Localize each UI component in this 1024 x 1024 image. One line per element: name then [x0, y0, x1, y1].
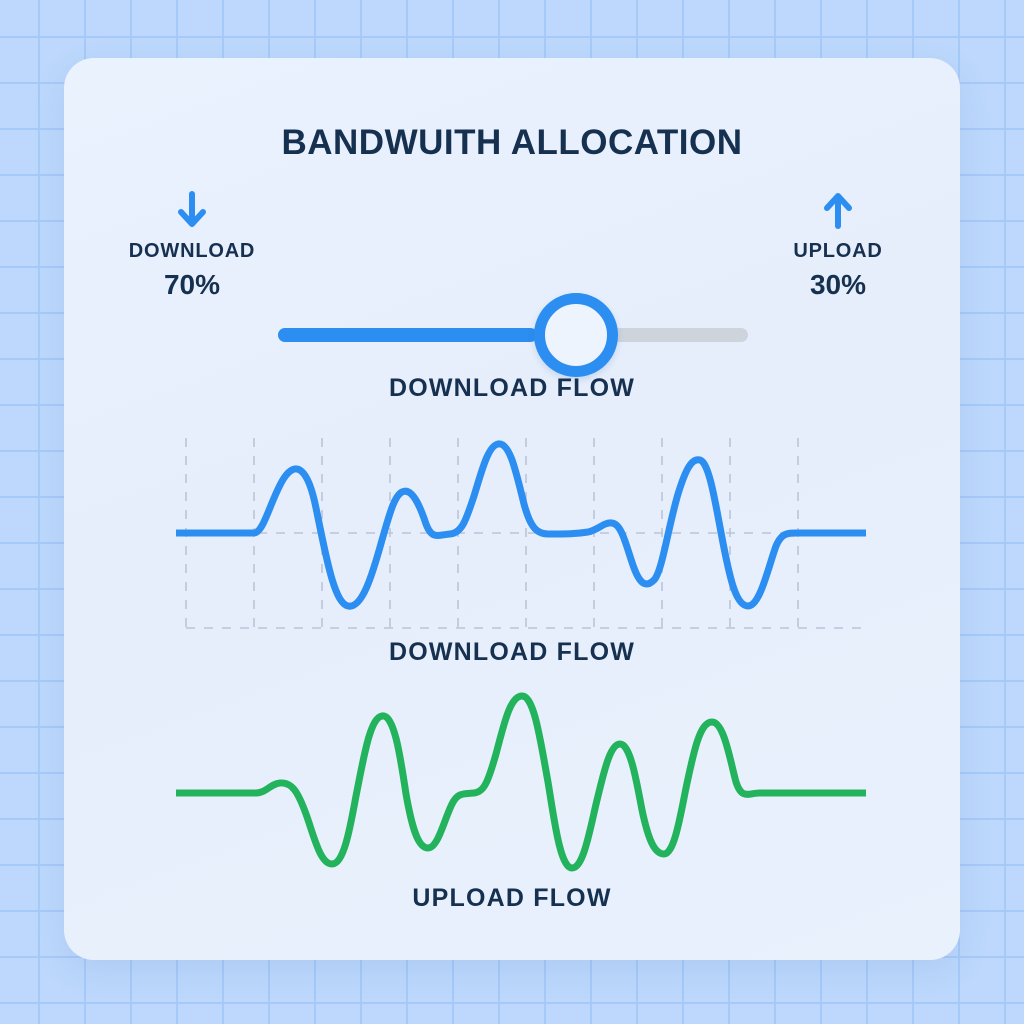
download-percent: 70%	[92, 269, 292, 301]
slider-track-fill	[278, 328, 537, 342]
chart-gridlines	[186, 438, 866, 628]
upload-flow-line	[176, 696, 866, 868]
middle-flow-heading: DOWNLOAD FLOW	[64, 638, 960, 667]
bandwidth-slider[interactable]	[278, 292, 748, 376]
upload-side-readout: UPLOAD 30%	[738, 188, 938, 301]
bandwidth-allocation-card: BANDWUITH ALLOCATION DOWNLOAD 70%	[64, 58, 960, 960]
arrow-up-icon	[738, 188, 938, 232]
download-flow-chart	[176, 428, 866, 638]
screen: BANDWUITH ALLOCATION DOWNLOAD 70%	[0, 0, 1024, 1024]
slider-thumb[interactable]	[534, 293, 618, 377]
download-side-readout: DOWNLOAD 70%	[92, 188, 292, 301]
download-flow-heading: DOWNLOAD FLOW	[64, 374, 960, 403]
upload-percent: 30%	[738, 269, 938, 301]
allocation-slider-row: DOWNLOAD 70% UPLOAD 30%	[64, 188, 960, 368]
download-flow-line	[176, 444, 866, 606]
upload-flow-chart	[176, 688, 866, 883]
page-title: BANDWUITH ALLOCATION	[64, 123, 960, 163]
upload-label: UPLOAD	[738, 240, 938, 263]
upload-flow-heading: UPLOAD FLOW	[64, 884, 960, 913]
download-label: DOWNLOAD	[92, 240, 292, 263]
arrow-down-icon	[92, 188, 292, 232]
